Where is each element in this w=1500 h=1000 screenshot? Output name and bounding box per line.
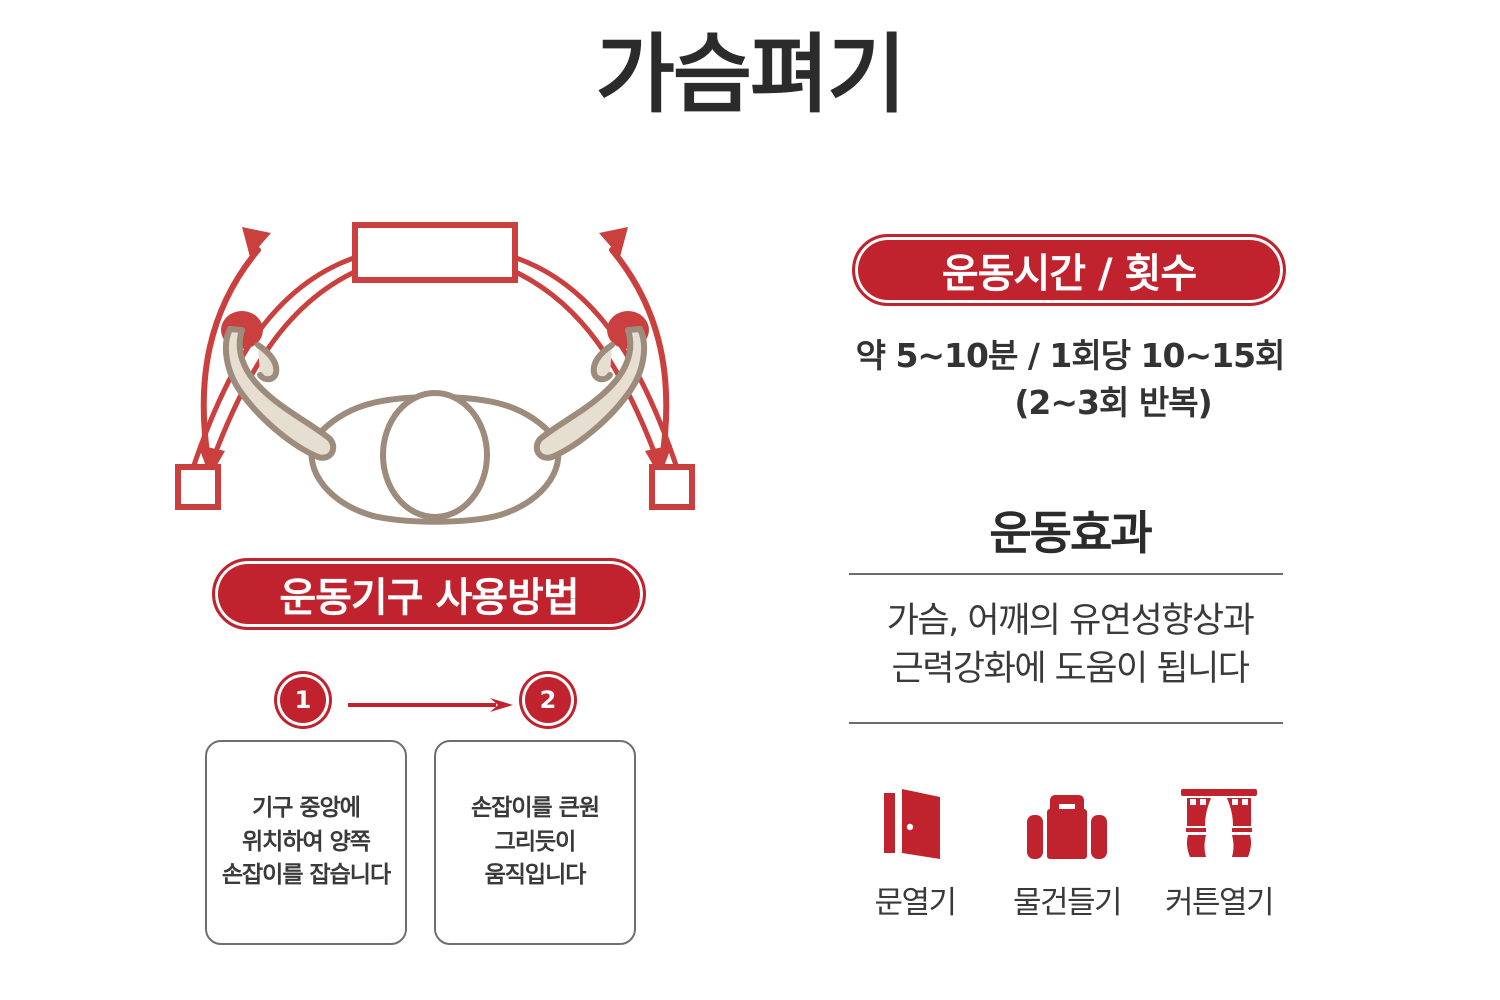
step-text-2: 손잡이를 큰원 그리듯이 움직입니다	[471, 792, 599, 892]
steps-indicator-row: 1 2	[205, 673, 655, 729]
exercise-illustration	[130, 205, 740, 535]
effect-heading: 운동효과	[836, 497, 1304, 563]
door-icon	[876, 785, 954, 859]
benefit-item-suitcase: 물건들기	[997, 785, 1137, 922]
suitcase-icon	[1025, 785, 1109, 859]
benefit-label-suitcase: 물건들기	[1013, 877, 1121, 922]
benefit-label-curtain: 커튼열기	[1165, 877, 1273, 922]
time-line-2: (2~3회 반복)	[836, 380, 1304, 427]
arrow-right-icon	[348, 697, 513, 711]
divider-top	[849, 573, 1283, 575]
step-number-2: 2	[525, 677, 571, 723]
effect-description: 가슴, 어깨의 유연성향상과 근력강화에 도움이 됩니다	[836, 597, 1304, 694]
right-thumb	[594, 345, 612, 379]
left-base-square	[178, 467, 218, 507]
divider-bottom	[849, 722, 1283, 724]
benefit-row: 문열기 물건들기	[845, 785, 1289, 922]
right-base-square	[652, 467, 692, 507]
step-box-1: 기구 중앙에 위치하여 양쪽 손잡이를 잡습니다	[205, 740, 407, 945]
exercise-time-detail: 약 5~10분 / 1회당 10~15회 (2~3회 반복)	[836, 333, 1304, 427]
left-thumb	[258, 345, 276, 379]
benefit-item-curtain: 커튼열기	[1149, 785, 1289, 922]
step-number-1: 1	[280, 677, 326, 723]
right-arm	[537, 329, 644, 458]
step-boxes: 기구 중앙에 위치하여 양쪽 손잡이를 잡습니다 손잡이를 큰원 그리듯이 움직…	[205, 740, 655, 945]
time-line-1: 약 5~10분 / 1회당 10~15회	[856, 336, 1285, 375]
equipment-top-bar	[355, 225, 515, 280]
step-text-1: 기구 중앙에 위치하여 양쪽 손잡이를 잡습니다	[222, 792, 390, 892]
curtain-icon	[1179, 785, 1259, 859]
benefit-label-door: 문열기	[874, 877, 955, 922]
step-box-2: 손잡이를 큰원 그리듯이 움직입니다	[434, 740, 636, 945]
exercise-time-badge: 운동시간 / 횟수	[852, 234, 1286, 306]
page-title: 가슴펴기	[0, 26, 1500, 125]
left-arm	[226, 329, 333, 458]
usage-method-badge: 운동기구 사용방법	[212, 558, 646, 630]
person-head	[383, 393, 487, 517]
benefit-item-door: 문열기	[845, 785, 985, 922]
